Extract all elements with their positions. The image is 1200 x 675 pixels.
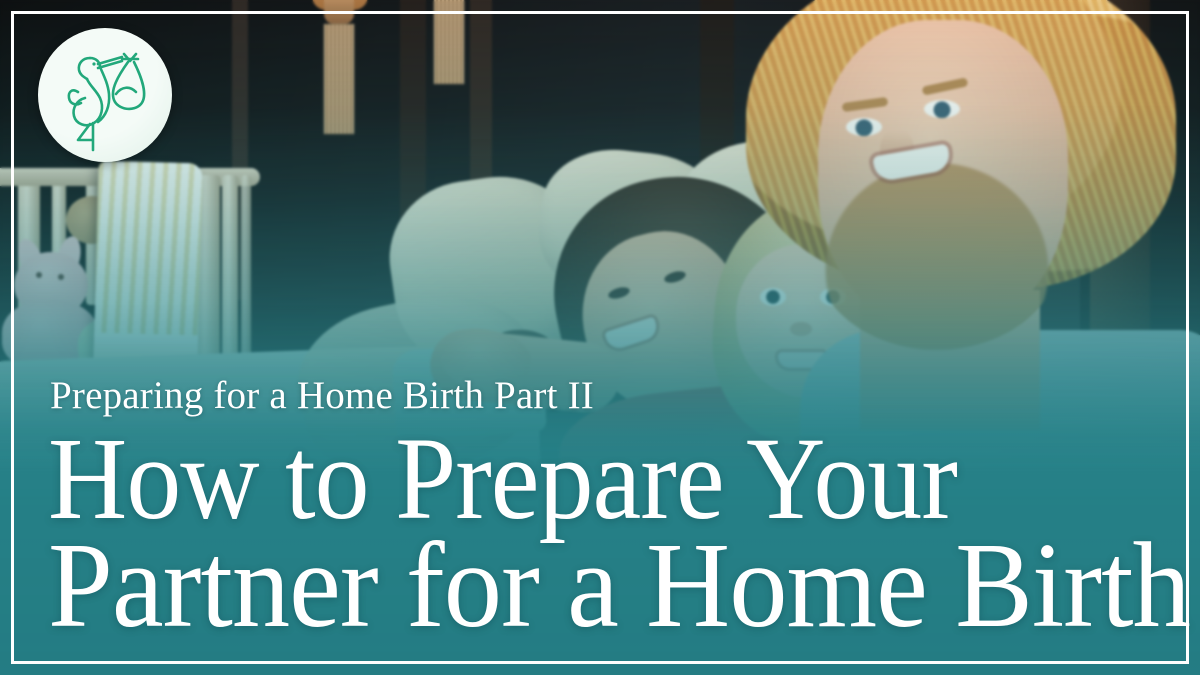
series-subtitle: Preparing for a Home Birth Part II	[50, 376, 1168, 415]
video-thumbnail: Preparing for a Home Birth Part II How t…	[0, 0, 1200, 675]
title-block: Preparing for a Home Birth Part II How t…	[48, 376, 1168, 637]
brand-logo[interactable]	[38, 28, 172, 162]
title-line-2: Partner for a Home Birth	[48, 535, 1118, 637]
title-line-1: How to Prepare Your	[48, 429, 1090, 528]
page-title: How to Prepare Your Partner for a Home B…	[48, 429, 1168, 637]
stork-icon	[38, 28, 172, 162]
